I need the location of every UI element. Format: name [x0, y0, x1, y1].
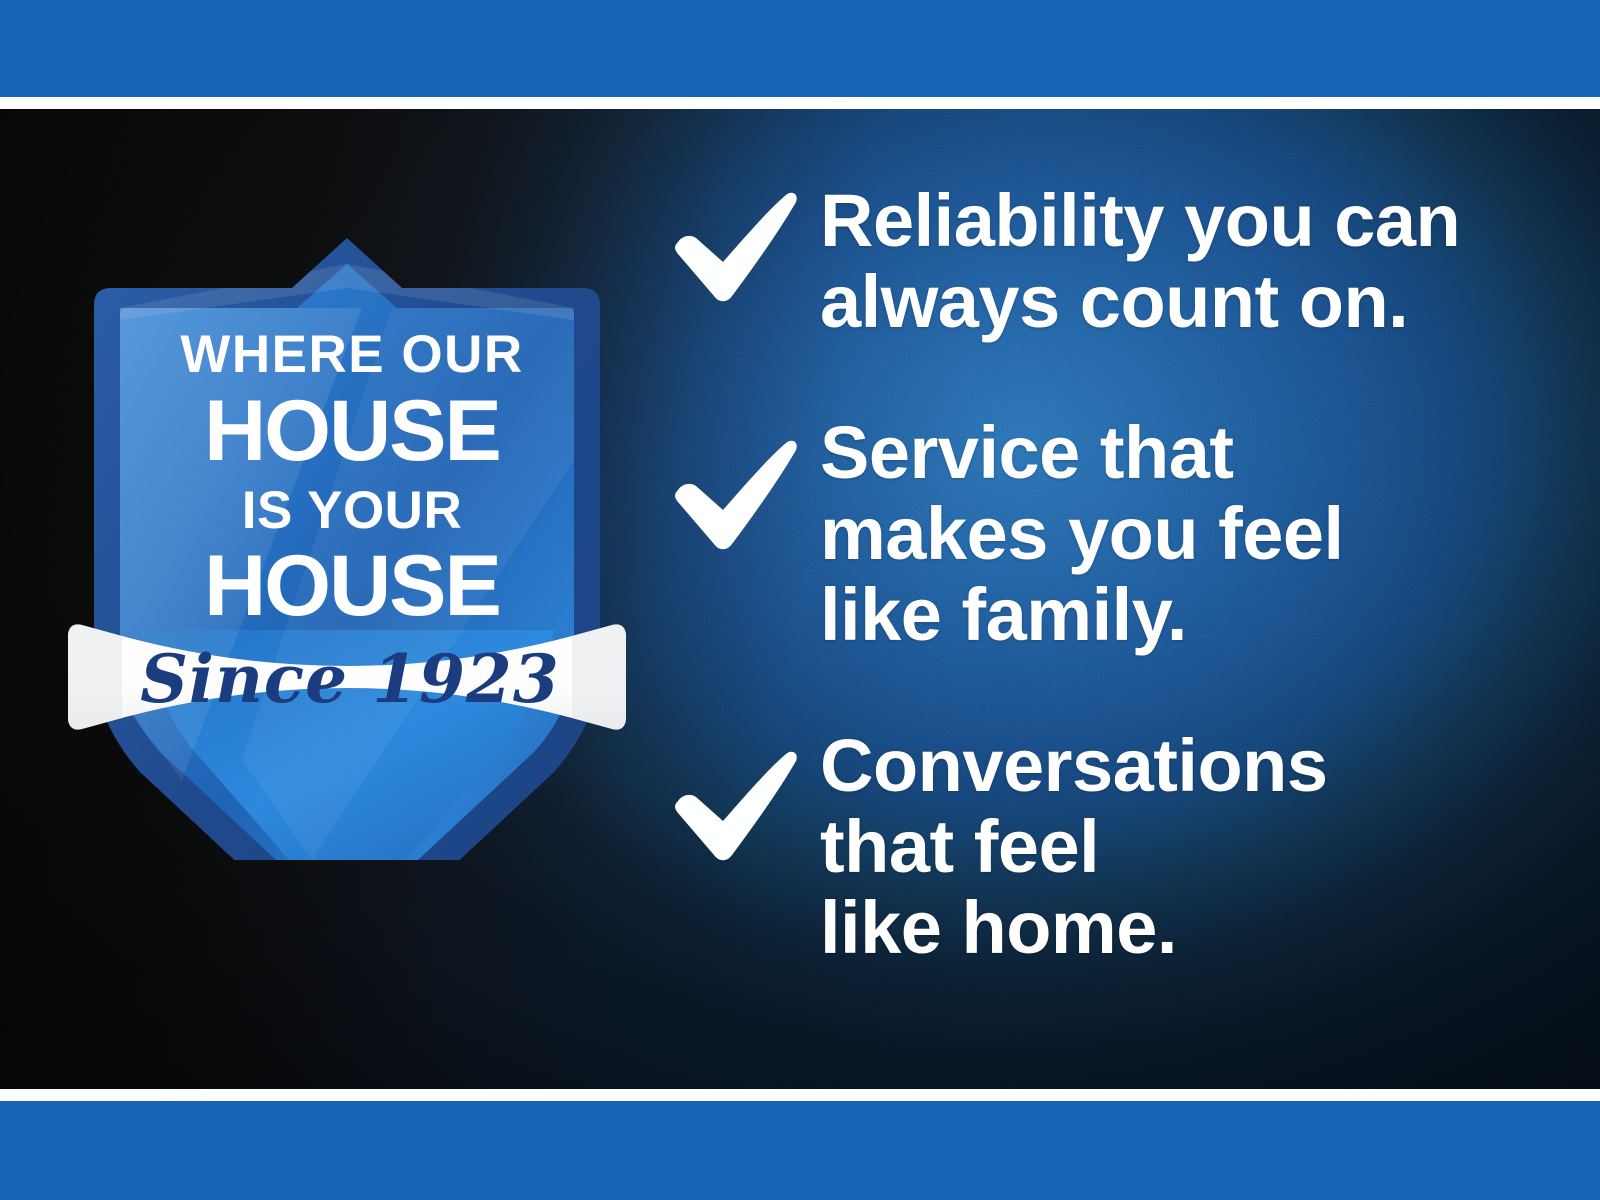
- benefit-text: Conversations that feel like home.: [820, 725, 1548, 968]
- logo-line-4: HOUSE: [204, 538, 500, 634]
- benefit-item: Reliability you can always count on.: [668, 180, 1548, 342]
- bottom-brand-bar: [0, 1101, 1600, 1200]
- benefit-text: Reliability you can always count on.: [820, 180, 1548, 342]
- logo-line-2: HOUSE: [204, 383, 500, 479]
- benefit-item: Conversations that feel like home.: [668, 725, 1548, 968]
- check-icon: [668, 180, 820, 308]
- bottom-divider-rule: [0, 1089, 1600, 1101]
- logo-line-3: IS YOUR: [242, 481, 462, 540]
- logo-ribbon-script: Since 1923: [140, 640, 560, 718]
- benefit-text: Service that makes you feel like family.: [820, 412, 1548, 655]
- top-brand-bar: [0, 0, 1600, 97]
- benefits-list: Reliability you can always count on. Ser…: [668, 180, 1548, 968]
- shield-ribbon-fold-right: [572, 624, 626, 729]
- company-shield-logo: WHERE OUR HOUSE IS YOUR HOUSE Since 1923: [62, 160, 632, 860]
- shield-ribbon-fold-left: [68, 624, 122, 729]
- check-icon: [668, 725, 820, 867]
- promo-graphic: WHERE OUR HOUSE IS YOUR HOUSE Since 1923…: [0, 0, 1600, 1200]
- benefit-item: Service that makes you feel like family.: [668, 412, 1548, 655]
- check-icon: [668, 412, 820, 556]
- top-divider-rule: [0, 97, 1600, 109]
- logo-line-1: WHERE OUR: [180, 325, 523, 384]
